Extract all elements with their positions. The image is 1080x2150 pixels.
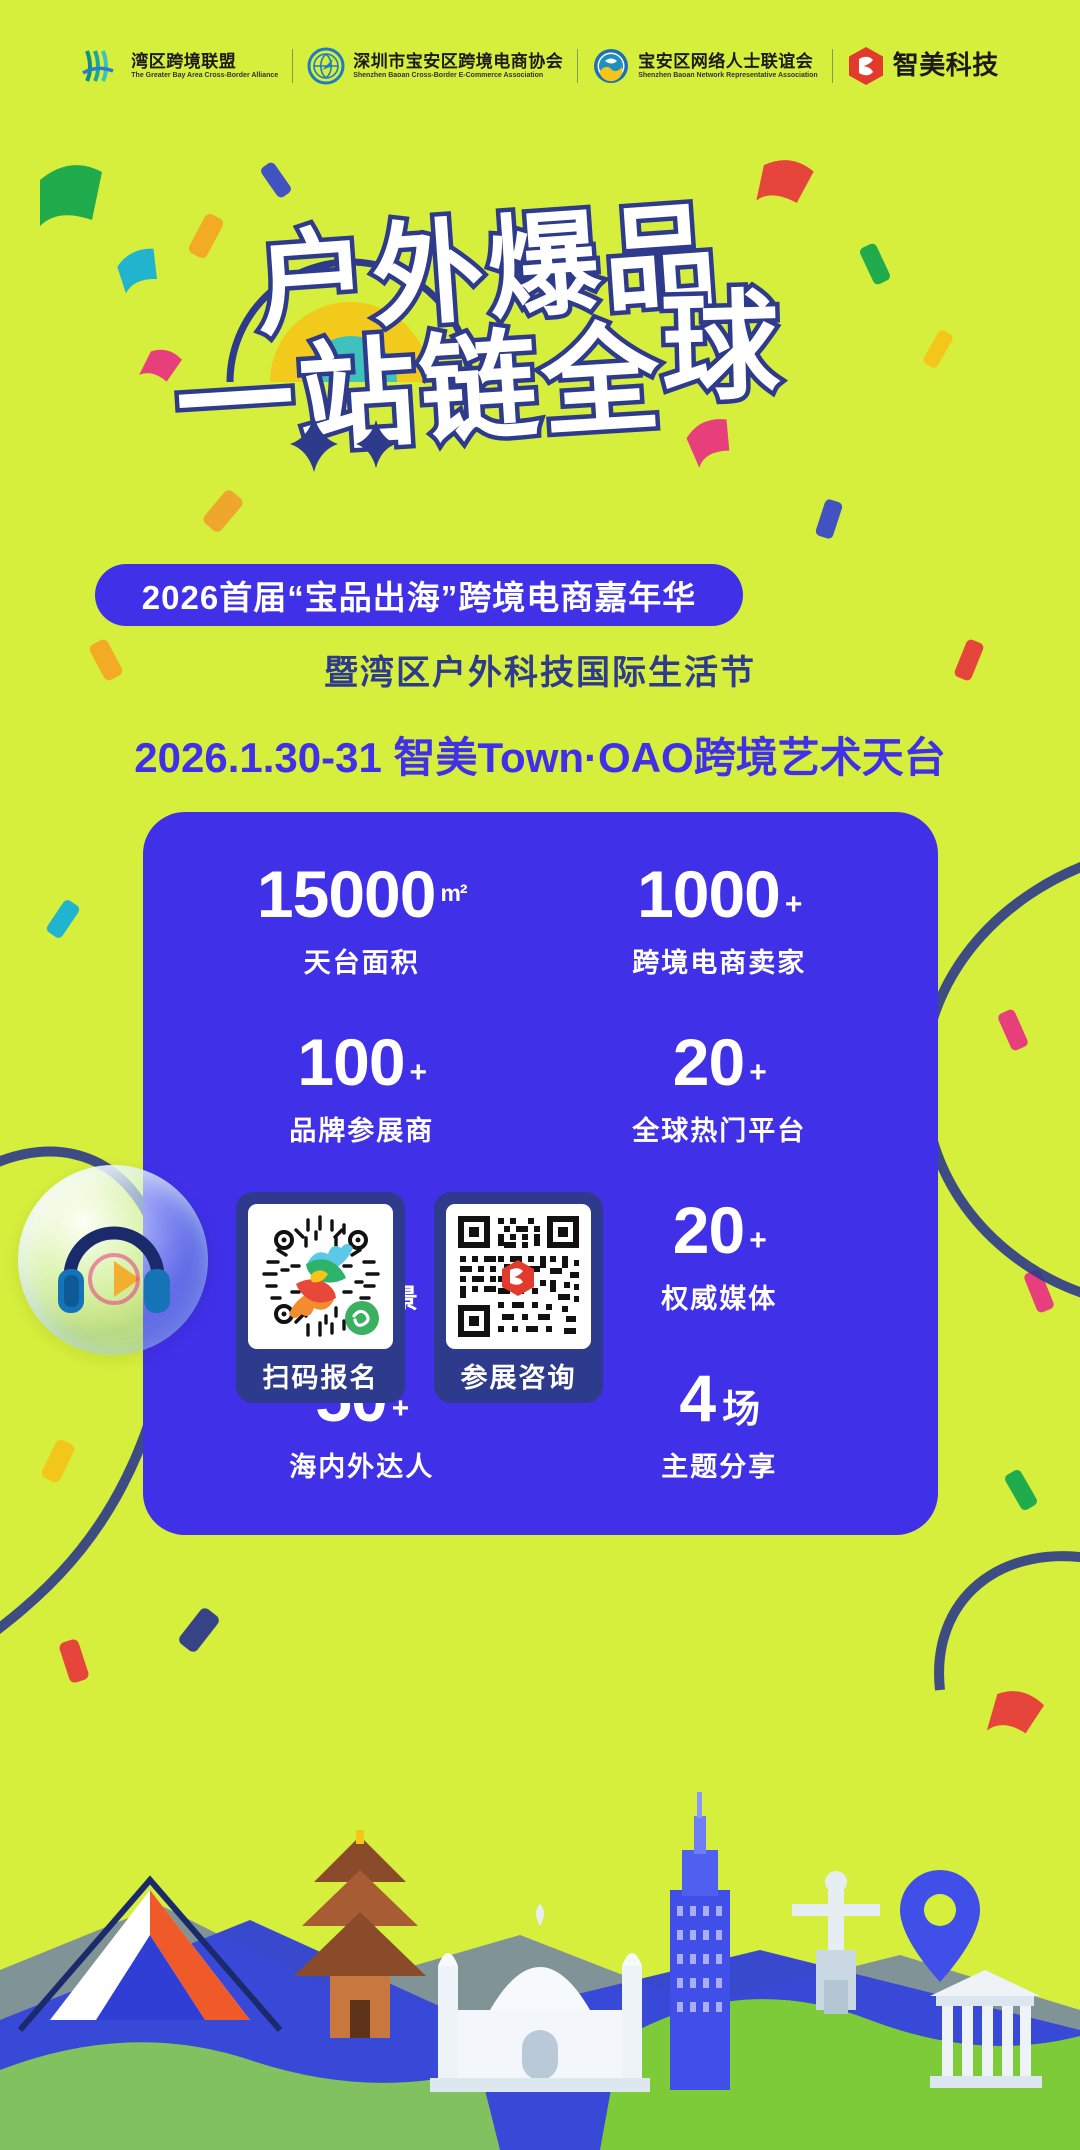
partner-logo-2: 宝安区网络人士联谊会 Shenzhen Baoan Network Repres… (578, 47, 831, 85)
stat-value-wrap: 20+ (673, 1197, 766, 1263)
headphones-icon (18, 1165, 208, 1355)
partner-name-cn: 深圳市宝安区跨境电商协会 (353, 52, 563, 72)
qr-image-signup[interactable] (248, 1204, 393, 1349)
rainbow-hands-icon (289, 1244, 353, 1318)
stat-suffix: + (749, 1058, 766, 1088)
empire-state-building-icon (670, 1792, 730, 2090)
partner-logo-bar: 湾区跨境联盟 The Greater Bay Area Cross-Border… (0, 46, 1080, 86)
seal-circle-logo-icon (592, 47, 630, 85)
stat-label: 品牌参展商 (289, 1109, 434, 1148)
stat-value: 20 (673, 1197, 744, 1263)
wechat-mini-program-qr-icon (248, 1204, 393, 1349)
stat-suffix: + (785, 890, 802, 920)
soap-bubble-decoration (18, 1165, 208, 1355)
standard-qr-icon (446, 1204, 591, 1349)
stat-label: 天台面积 (304, 941, 420, 980)
stat-value-wrap: 1000+ (637, 861, 801, 927)
partner-name-en: Shenzhen Baoan Cross-Border E-Commerce A… (353, 72, 563, 80)
qr-label-exhibit: 参展咨询 (446, 1356, 591, 1395)
headline-line-2-raised: 球 (659, 250, 785, 424)
stat-label: 权威媒体 (661, 1277, 777, 1316)
hexagon-z-logo-icon (847, 46, 885, 86)
qr-label-signup: 扫码报名 (248, 1356, 393, 1395)
stat-value: 100 (297, 1029, 404, 1095)
partner-logo-3: 智美科技 (833, 46, 1013, 86)
partner-logo-0: 湾区跨境联盟 The Greater Bay Area Cross-Border… (67, 47, 292, 85)
headline-line-2: 一站链全球 (170, 274, 789, 482)
partner-logo-1: 深圳市宝安区跨境电商协会 Shenzhen Baoan Cross-Border… (293, 47, 577, 85)
stat-label: 主题分享 (661, 1445, 777, 1484)
partner-name-cn: 宝安区网络人士联谊会 (638, 52, 817, 72)
stat-item: 15000m² 天台面积 (183, 836, 541, 1004)
event-dateline: 2026.1.30-31 智美Town·OAO跨境艺术天台 (0, 724, 1080, 785)
globe-circle-logo-icon (307, 47, 345, 85)
qr-card-exhibit[interactable]: 参展咨询 (434, 1192, 603, 1403)
event-title-text: 2026首届“宝品出海”跨境电商嘉年华 (142, 571, 696, 619)
qr-card-signup[interactable]: 扫码报名 (236, 1192, 405, 1403)
event-subtitle: 暨湾区户外科技国际生活节 (0, 645, 1080, 694)
stat-suffix: + (749, 1226, 766, 1256)
stat-value: 15000 (257, 861, 436, 927)
stat-value-wrap: 20+ (673, 1029, 766, 1095)
stat-item: 20+ 全球热门平台 (541, 1004, 899, 1172)
main-headline: 户外爆品 一站链全球 (0, 152, 1080, 552)
stat-value: 4 (679, 1365, 715, 1431)
stat-suffix: + (410, 1058, 427, 1088)
mini-program-badge (345, 1301, 379, 1335)
stats-panel: 15000m² 天台面积 1000+ 跨境电商卖家 100+ 品牌参展商 20+… (143, 812, 938, 1535)
stat-label: 跨境电商卖家 (632, 941, 806, 980)
stat-item: 100+ 品牌参展商 (183, 1004, 541, 1172)
stat-value-wrap: 100+ (297, 1029, 426, 1095)
event-title-banner: 2026首届“宝品出海”跨境电商嘉年华 (95, 564, 743, 626)
stat-label: 全球热门平台 (632, 1109, 806, 1148)
partner-name-en: Shenzhen Baoan Network Representative As… (638, 72, 817, 80)
stat-value-wrap: 15000m² (257, 861, 467, 927)
bottom-landmark-illustration (0, 1720, 1080, 2150)
stat-suffix: 场 (722, 1391, 759, 1429)
partner-name-cn: 湾区跨境联盟 (131, 52, 278, 72)
wave-lines-logo-icon (81, 47, 123, 85)
partner-name-en: The Greater Bay Area Cross-Border Allian… (131, 72, 278, 80)
stat-label: 海内外达人 (289, 1445, 434, 1484)
stat-value: 1000 (637, 861, 780, 927)
stat-value-wrap: 4场 (679, 1365, 759, 1431)
stat-suffix: m² (440, 882, 466, 905)
sparkle-diamonds-decoration (288, 414, 428, 474)
stat-value: 20 (673, 1029, 744, 1095)
partner-name-cn: 智美科技 (893, 51, 999, 81)
qr-image-exhibit[interactable] (446, 1204, 591, 1349)
stat-item: 1000+ 跨境电商卖家 (541, 836, 899, 1004)
